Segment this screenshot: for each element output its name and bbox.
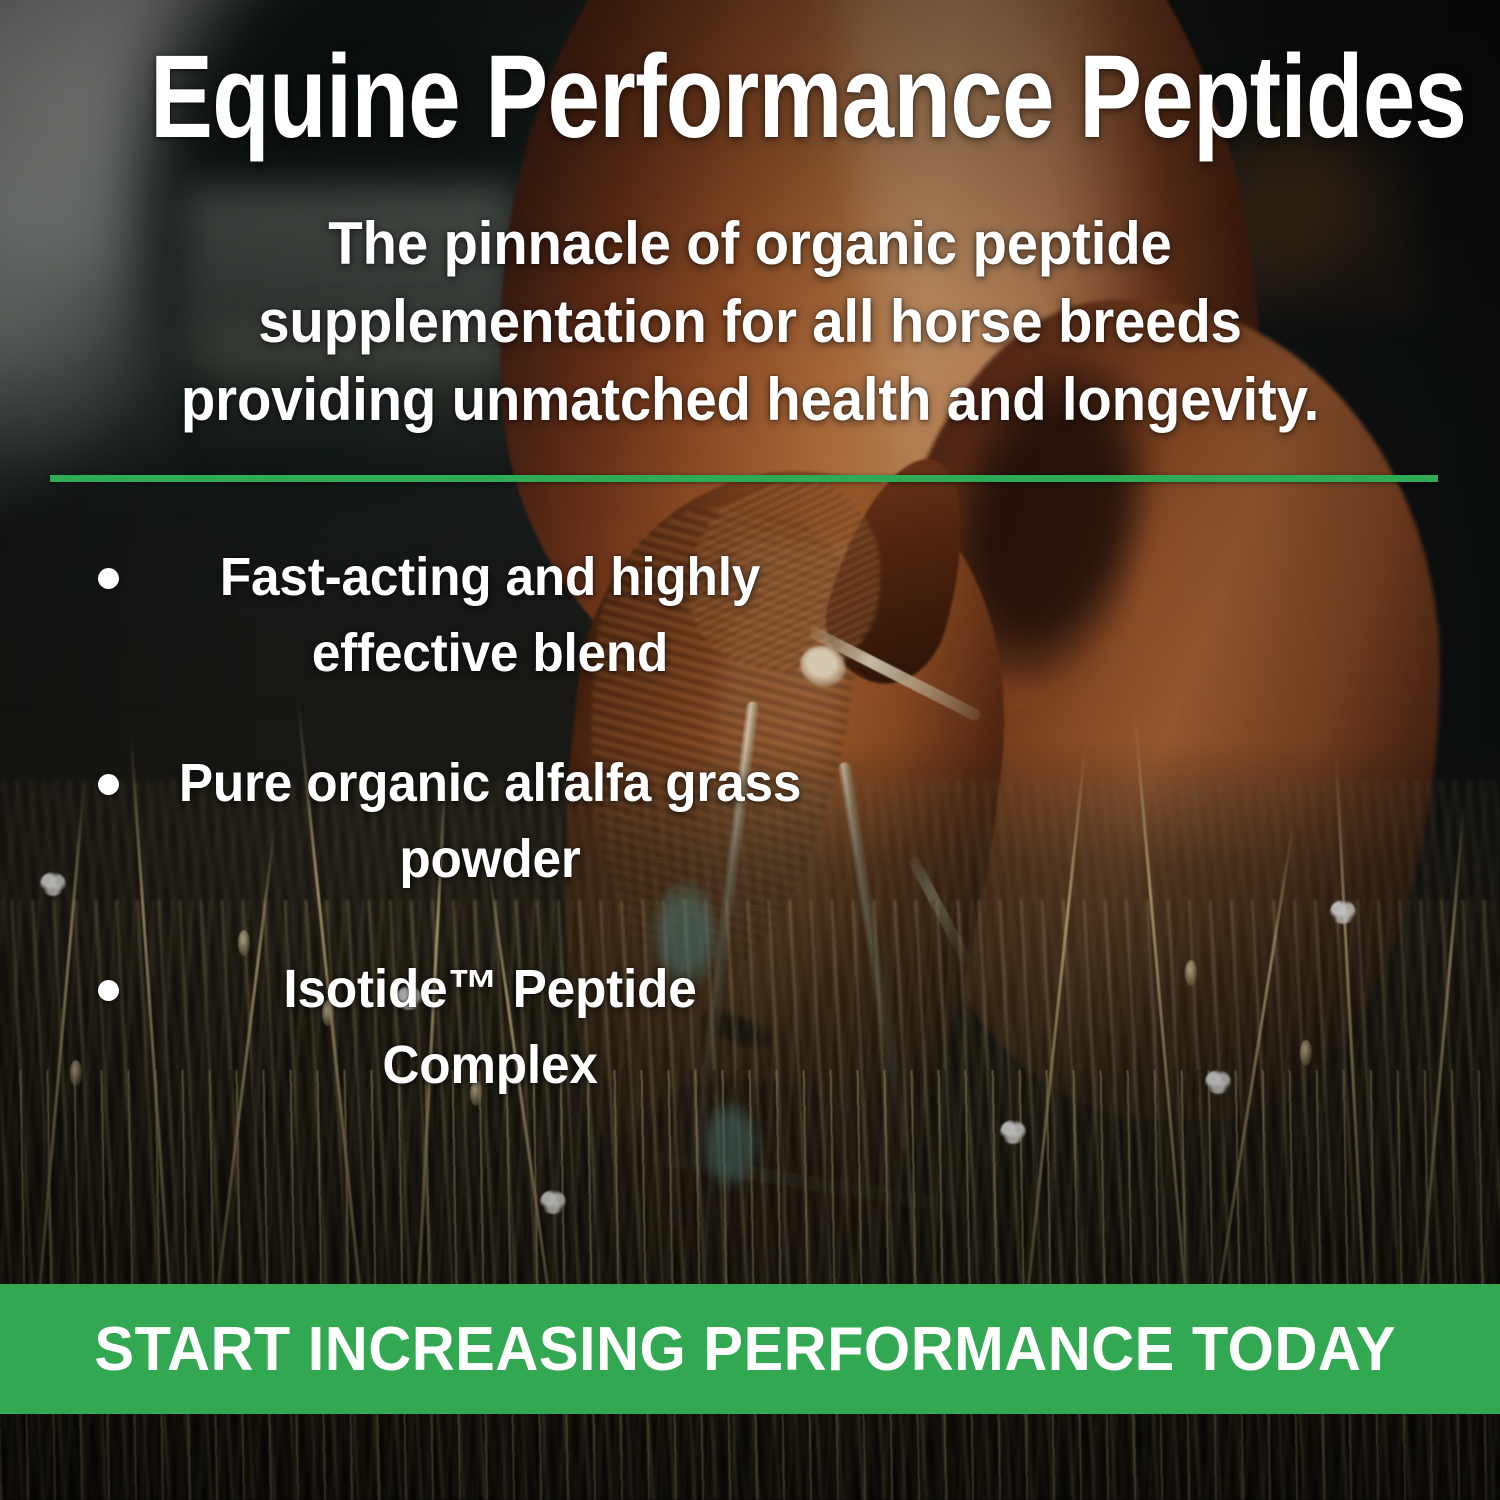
cta-banner[interactable]: START INCREASING PERFORMANCE TODAY xyxy=(0,1284,1500,1414)
cta-label[interactable]: START INCREASING PERFORMANCE TODAY xyxy=(30,1314,1470,1385)
bullet-dot-icon xyxy=(98,774,119,795)
poster-content: Equine Performance Peptides The pinnacle… xyxy=(0,0,1500,1500)
subtitle: The pinnacle of organic peptide suppleme… xyxy=(130,205,1371,439)
green-divider xyxy=(50,475,1438,482)
bullet-dot-icon xyxy=(98,980,119,1001)
list-item: Pure organic alfalfa grass powder xyxy=(0,746,840,897)
benefit-text: Fast-acting and highly effective blend xyxy=(177,540,804,691)
benefit-text: Isotide™ Peptide Complex xyxy=(177,952,804,1103)
benefits-list: Fast-acting and highly effective blend P… xyxy=(0,540,840,1159)
page-title: Equine Performance Peptides xyxy=(150,38,1350,156)
list-item: Fast-acting and highly effective blend xyxy=(0,540,840,691)
bullet-dot-icon xyxy=(98,568,119,589)
product-promo-poster: Equine Performance Peptides The pinnacle… xyxy=(0,0,1500,1500)
list-item: Isotide™ Peptide Complex xyxy=(0,952,840,1103)
benefit-text: Pure organic alfalfa grass powder xyxy=(177,746,804,897)
